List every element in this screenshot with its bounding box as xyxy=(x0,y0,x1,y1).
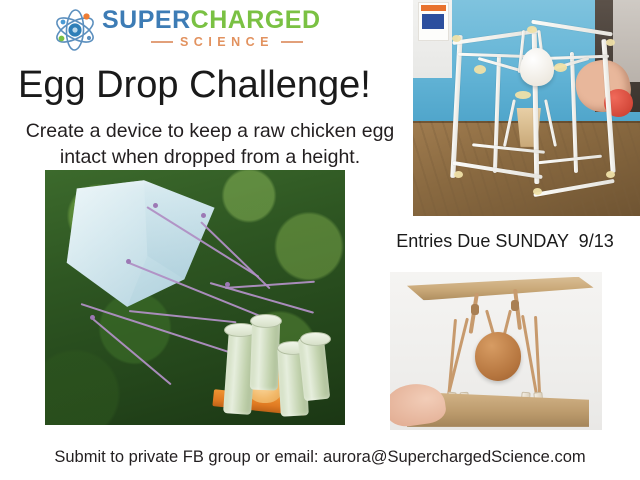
straw-tower-photo xyxy=(413,0,640,216)
cup-rim xyxy=(300,332,331,346)
tape-joint xyxy=(515,91,531,99)
tape-joint xyxy=(454,171,463,178)
entries-due-text: Entries Due SUNDAY 9/13 xyxy=(380,231,630,252)
brand-word-line: SUPERCHARGED xyxy=(102,6,360,34)
tape-joint xyxy=(606,171,615,178)
submission-footer: Submit to private FB group or email: aur… xyxy=(0,448,640,467)
cup-rim xyxy=(250,314,282,328)
white-egg xyxy=(520,48,554,87)
brown-egg xyxy=(475,332,522,381)
shroud-line xyxy=(200,221,270,289)
brand-word-charged: CHARGED xyxy=(191,6,321,34)
tagline-rule-left xyxy=(151,41,173,43)
page-title: Egg Drop Challenge! xyxy=(18,62,398,108)
top-cardboard-sheet xyxy=(407,277,594,301)
tape-joint xyxy=(527,26,537,33)
brand-wordmark: SUPERCHARGED SCIENCE xyxy=(102,6,360,58)
tape-joint xyxy=(452,35,461,42)
cup-tube xyxy=(298,336,331,401)
tagline-rule-right xyxy=(281,41,303,43)
tape-joint xyxy=(474,65,486,74)
poster-canvas: SUPERCHARGED SCIENCE Egg Drop Challenge!… xyxy=(0,0,640,480)
brand-tagline: SCIENCE xyxy=(180,35,274,49)
page-subtitle: Create a device to keep a raw chicken eg… xyxy=(10,118,410,170)
cup-tube xyxy=(250,319,280,389)
egg-carrier xyxy=(213,313,339,425)
brand-logo: SUPERCHARGED SCIENCE xyxy=(48,4,358,60)
cardboard-rig-photo xyxy=(390,272,602,430)
parachute-photo xyxy=(45,170,345,425)
tape-joint xyxy=(554,63,567,72)
band-knot xyxy=(471,304,479,315)
brand-word-super: SUPER xyxy=(102,6,191,34)
atom-icon xyxy=(52,8,98,52)
tape-joint xyxy=(606,39,615,46)
wall-poster xyxy=(418,2,450,41)
band-knot xyxy=(511,300,519,311)
brand-tagline-row: SCIENCE xyxy=(102,35,352,49)
